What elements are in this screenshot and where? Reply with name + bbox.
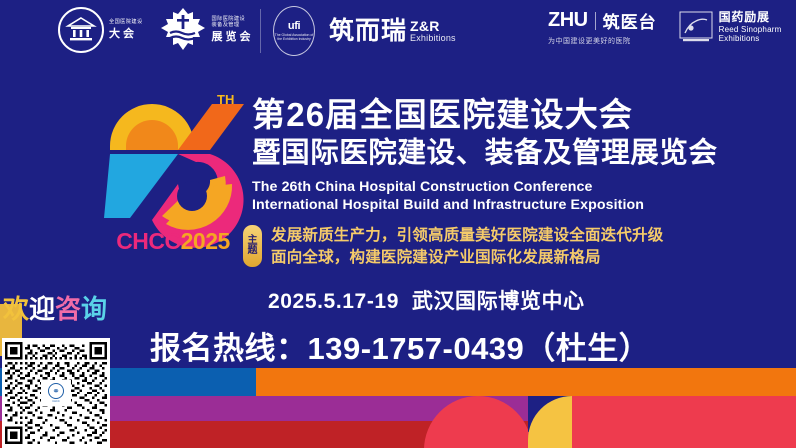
- seal-ring: ⚭: [48, 383, 64, 399]
- reed-sinopharm-seal-icon: [679, 11, 713, 43]
- partner-logo-bar: 全国医院建设 大会 国际医院建设 装备及管理 展览会: [0, 0, 796, 68]
- theme-block: 主 题 发展新质生产力，引领高质量美好医院建设全面迭代升级 面向全球，构建医院建…: [243, 225, 664, 269]
- ufi-caption: The Global Association of the Exhibition…: [274, 33, 314, 42]
- ufi-badge-icon: ufi The Global Association of the Exhibi…: [273, 6, 315, 56]
- theme-badge-char-2: 题: [248, 246, 258, 257]
- theme-line-2: 面向全球，构建医院建设产业国际化发展新格局: [271, 247, 664, 269]
- chcc-wordmark: CHCC2025: [96, 228, 250, 255]
- welcome-char-3: 咨: [55, 294, 81, 324]
- welcome-char-2: 迎: [29, 294, 55, 324]
- headline-block: 第26届全国医院建设大会 暨国际医院建设、装备及管理展览会 The 26th C…: [252, 96, 702, 215]
- reed-en-1: Reed Sinopharm: [719, 25, 782, 35]
- zr-exhibitions-logo: 筑而瑞 Z&R Exhibitions: [329, 19, 456, 44]
- headline-line-1: 第26届全国医院建设大会: [252, 96, 702, 135]
- welcome-char-4: 询: [81, 294, 107, 324]
- zhu-slogan: 为中国建设更美好的医院: [548, 36, 631, 46]
- headline-en-line-2: International Hospital Build and Infrast…: [252, 196, 702, 214]
- svg-text:TH: TH: [217, 92, 234, 107]
- welcome-text: 欢迎咨询: [3, 296, 121, 322]
- ufi-and-zr-logos: ufi The Global Association of the Exhibi…: [248, 6, 456, 56]
- reed-cn-name: 国药励展: [719, 10, 782, 24]
- event-date-venue: 2025.5.17-19 武汉国际博览中心: [268, 285, 585, 315]
- bottom-color-bands: [0, 368, 796, 448]
- chcc-year: 2025: [181, 228, 230, 254]
- zr-cn-name: 筑而瑞: [329, 19, 407, 44]
- seal-caption: CHCC: [52, 400, 60, 403]
- sponsor-logos: ZHU 筑医台 为中国建设更美好的医院 国药励展 R: [548, 8, 781, 46]
- conference-emblem-big: 大会: [109, 28, 143, 41]
- zhu-mark: ZHU: [548, 9, 588, 32]
- chcc-26-logo-icon: TH: [92, 88, 252, 248]
- theme-line-1: 发展新质生产力，引领高质量美好医院建设全面迭代升级: [271, 225, 664, 247]
- ufi-mark: ufi: [288, 21, 300, 32]
- reed-sinopharm-logo: 国药励展 Reed Sinopharm Exhibitions: [679, 10, 782, 44]
- band-pink: [560, 396, 796, 448]
- conference-emblem-small: 全国医院建设: [109, 20, 143, 26]
- theme-lines: 发展新质生产力，引领高质量美好医院建设全面迭代升级 面向全球，构建医院建设产业国…: [271, 225, 664, 269]
- poster-root: 全国医院建设 大会 国际医院建设 装备及管理 展览会: [0, 0, 796, 448]
- building-emblem-icon: [58, 7, 104, 53]
- zhuyitai-row: ZHU 筑医台: [548, 8, 657, 33]
- headline-en-line-1: The 26th China Hospital Construction Con…: [252, 178, 702, 196]
- organizer-logos: 全国医院建设 大会 国际医院建设 装备及管理 展览会: [58, 6, 254, 54]
- logo-divider: [260, 9, 261, 53]
- zhu-divider: [595, 12, 596, 30]
- zr-en-block: Z&R Exhibitions: [410, 19, 456, 43]
- headline-line-2: 暨国际医院建设、装备及管理展览会: [252, 136, 702, 171]
- welcome-char-1: 欢: [3, 294, 29, 324]
- chcc-round-seal-icon: ⚭ CHCC: [41, 380, 71, 406]
- theme-badge: 主 题: [243, 225, 262, 267]
- zr-en-sub: Exhibitions: [410, 34, 456, 43]
- qr-code-icon[interactable]: ⚭ CHCC: [2, 338, 110, 448]
- event-venue: 武汉国际博览中心: [412, 290, 585, 313]
- zhu-cn-name: 筑医台: [603, 8, 657, 33]
- hotline-text: 报名热线：139-1757-0439（杜生）: [150, 323, 650, 368]
- organizer-emblem-text: 全国医院建设 大会: [109, 20, 143, 41]
- chcc-word: CHCC: [116, 228, 180, 254]
- zhuyitai-logo: ZHU 筑医台 为中国建设更美好的医院: [548, 8, 657, 46]
- zr-en-main: Z&R: [410, 19, 456, 34]
- snowflake-cross-icon: [159, 6, 207, 54]
- event-date: 2025.5.17-19: [268, 290, 399, 313]
- band-orange: [256, 368, 796, 396]
- reed-text-block: 国药励展 Reed Sinopharm Exhibitions: [719, 10, 782, 44]
- reed-en-2: Exhibitions: [719, 34, 782, 44]
